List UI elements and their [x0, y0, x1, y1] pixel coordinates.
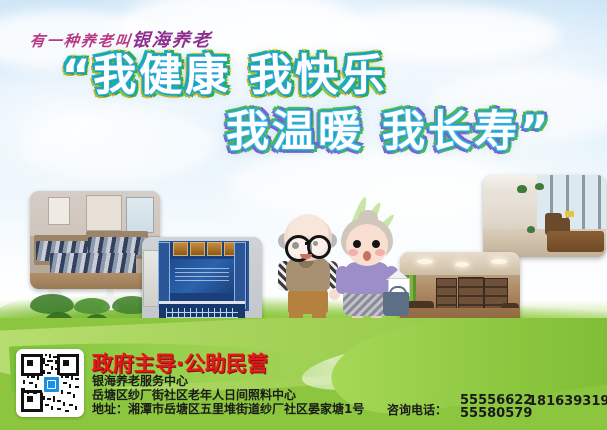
handbag-icon — [383, 292, 409, 316]
grandma-cheek-right — [375, 249, 385, 256]
slogan-line-2: 我温暖 我长寿” — [0, 104, 607, 160]
photo-bedroom — [30, 191, 160, 289]
slogan-line-1: “我健康 我快乐 — [0, 48, 607, 104]
bush-decoration — [30, 294, 74, 314]
poster-canvas: 有一种养老叫银海养老 “我健康 我快乐 我温暖 我长寿” — [0, 0, 607, 430]
grandpa-character — [276, 215, 340, 330]
grandpa-glasses-bridge — [305, 242, 309, 245]
photo-corridor — [483, 175, 606, 257]
mobile-number: 18163931990 — [528, 394, 607, 409]
grandma-eye-right — [372, 240, 380, 248]
grandma-cheek-left — [348, 249, 358, 256]
qr-code-card[interactable] — [16, 349, 84, 417]
qr-code-image[interactable] — [21, 354, 79, 412]
calligraphy-tagline-emphasis: 银海养老 — [131, 30, 213, 50]
main-slogan: “我健康 我快乐 我温暖 我长寿” — [0, 48, 607, 160]
grandma-mouth — [363, 251, 371, 261]
photo-conference — [142, 237, 262, 327]
grandpa-trousers — [288, 288, 328, 314]
wechat-qr-logo-icon — [42, 375, 61, 394]
telephone-number-2: 55580579 — [460, 407, 532, 420]
bush-decoration — [74, 298, 110, 314]
grandma-eye-left — [353, 240, 361, 248]
telephone-label: 咨询电话： — [387, 401, 447, 418]
address-line: 地址：湘潭市岳塘区五里堆街道纱厂社区晏家塘1号 — [92, 400, 364, 417]
grandma-top — [344, 262, 390, 294]
grandma-character — [336, 216, 404, 331]
grandpa-bald-top — [288, 214, 328, 236]
telephone-numbers: 55556622 55580579 — [460, 394, 532, 420]
